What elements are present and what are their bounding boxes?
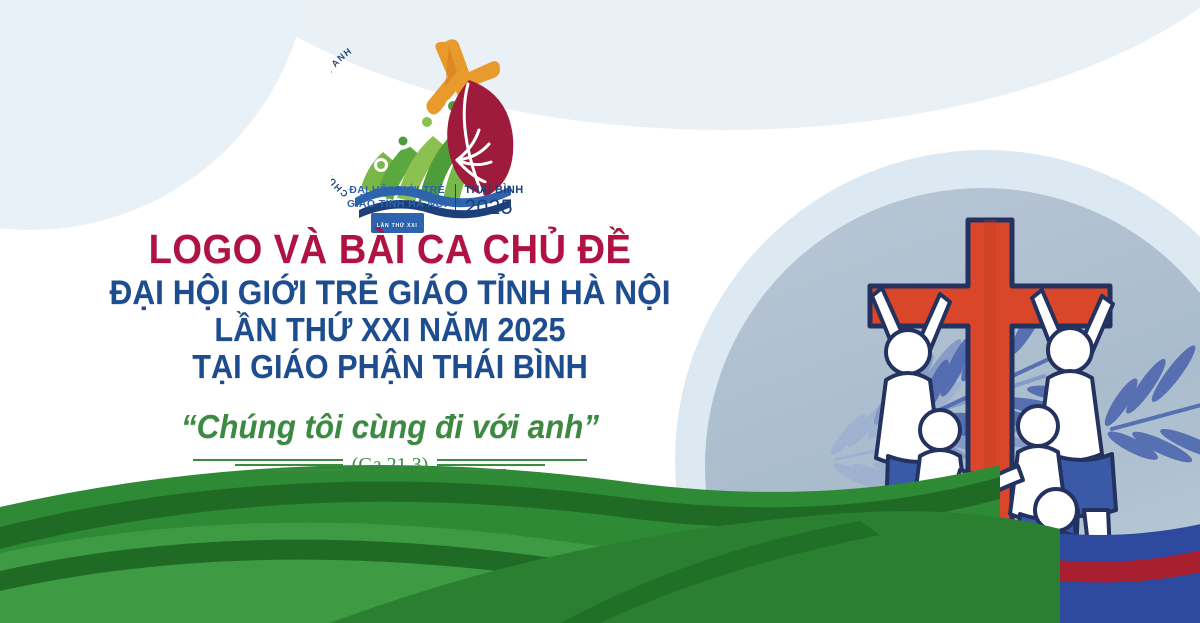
citation-rule-right <box>437 459 587 471</box>
logo-arc-text: CHÚNG TÔI CÙNG ĐI VỚI ANH <box>331 46 354 200</box>
logo-year: 2025 <box>464 197 523 218</box>
citation-rule-left <box>193 459 343 471</box>
headline-red: LOGO VÀ BÀI CA CHỦ ĐỀ <box>27 228 752 271</box>
logo-line-1: ĐẠI HỘI GIỚI TRẺ <box>347 184 447 196</box>
event-logo: CHÚNG TÔI CÙNG ĐI VỚI ANH <box>331 28 546 228</box>
headline-blue-line-1: ĐẠI HỘI GIỚI TRẺ GIÁO TỈNH HÀ NỘI <box>27 274 752 312</box>
background-circle-top-left <box>0 0 310 230</box>
headline-blue-line-3: TẠI GIÁO PHẬN THÁI BÌNH <box>27 349 752 386</box>
headline-block: LOGO VÀ BÀI CA CHỦ ĐỀ ĐẠI HỘI GIỚI TRẺ G… <box>0 228 780 477</box>
citation-row: (Ga 21,3) <box>0 454 780 477</box>
poster-canvas: CHÚNG TÔI CÙNG ĐI VỚI ANH <box>0 0 1200 623</box>
background-blob-top <box>150 0 1200 130</box>
citation-text: (Ga 21,3) <box>352 454 429 477</box>
theme-quote: “Chúng tôi cùng đi với anh” <box>20 408 761 446</box>
logo-place: THÁI BÌNH <box>464 184 523 196</box>
logo-line-2: GIÁO TỈNH HÀ NỘI <box>347 198 447 210</box>
headline-blue-line-2: LẦN THỨ XXI NĂM 2025 <box>27 312 752 349</box>
